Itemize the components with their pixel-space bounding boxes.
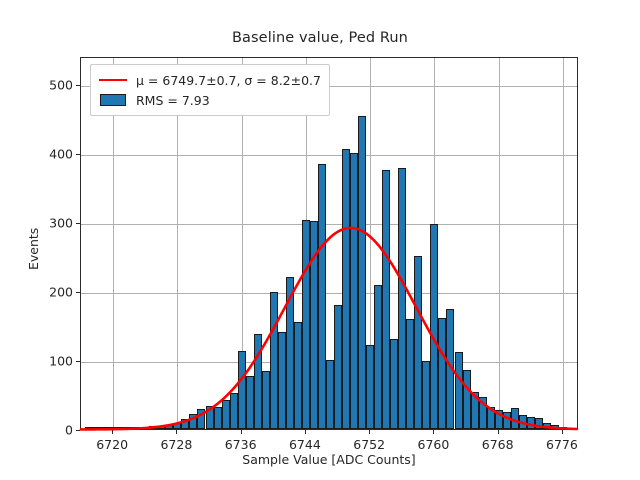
x-tick-label: 6776 xyxy=(546,437,578,452)
x-tick-label: 6768 xyxy=(482,437,514,452)
legend-fit-label: μ = 6749.7±0.7, σ = 8.2±0.7 xyxy=(136,73,321,88)
x-tick-mark xyxy=(369,430,370,434)
chart-title: Baseline value, Ped Run xyxy=(0,30,640,46)
legend-patch-swatch-icon xyxy=(97,94,129,106)
legend-rms-label: RMS = 7.93 xyxy=(136,93,210,108)
x-tick-label: 6736 xyxy=(225,437,257,452)
y-axis-label: Events xyxy=(26,227,41,269)
figure-canvas: Baseline value, Ped Run 0100200300400500… xyxy=(0,0,640,480)
x-tick-mark xyxy=(305,430,306,434)
y-tick-label: 200 xyxy=(3,284,73,299)
y-tick-label: 400 xyxy=(3,146,73,161)
y-tick-label: 500 xyxy=(3,77,73,92)
legend: μ = 6749.7±0.7, σ = 8.2±0.7 RMS = 7.93 xyxy=(90,64,330,116)
x-axis-label: Sample Value [ADC Counts] xyxy=(80,452,578,467)
x-tick-mark xyxy=(176,430,177,434)
x-tick-mark xyxy=(241,430,242,434)
x-tick-label: 6760 xyxy=(418,437,450,452)
x-tick-label: 6728 xyxy=(160,437,192,452)
x-tick-label: 6752 xyxy=(353,437,385,452)
y-tick-label: 100 xyxy=(3,353,73,368)
y-tick-mark xyxy=(76,154,80,155)
y-tick-mark xyxy=(76,223,80,224)
y-tick-mark xyxy=(76,85,80,86)
y-tick-mark xyxy=(76,430,80,431)
x-tick-mark xyxy=(112,430,113,434)
x-tick-mark xyxy=(433,430,434,434)
y-tick-mark xyxy=(76,292,80,293)
x-tick-mark xyxy=(498,430,499,434)
legend-item-histogram: RMS = 7.93 xyxy=(97,90,321,110)
x-tick-label: 6744 xyxy=(289,437,321,452)
legend-line-swatch-icon xyxy=(97,79,129,82)
x-tick-mark xyxy=(562,430,563,434)
y-tick-mark xyxy=(76,361,80,362)
y-tick-label: 0 xyxy=(3,423,73,438)
legend-item-fit: μ = 6749.7±0.7, σ = 8.2±0.7 xyxy=(97,70,321,90)
x-tick-label: 6720 xyxy=(96,437,128,452)
